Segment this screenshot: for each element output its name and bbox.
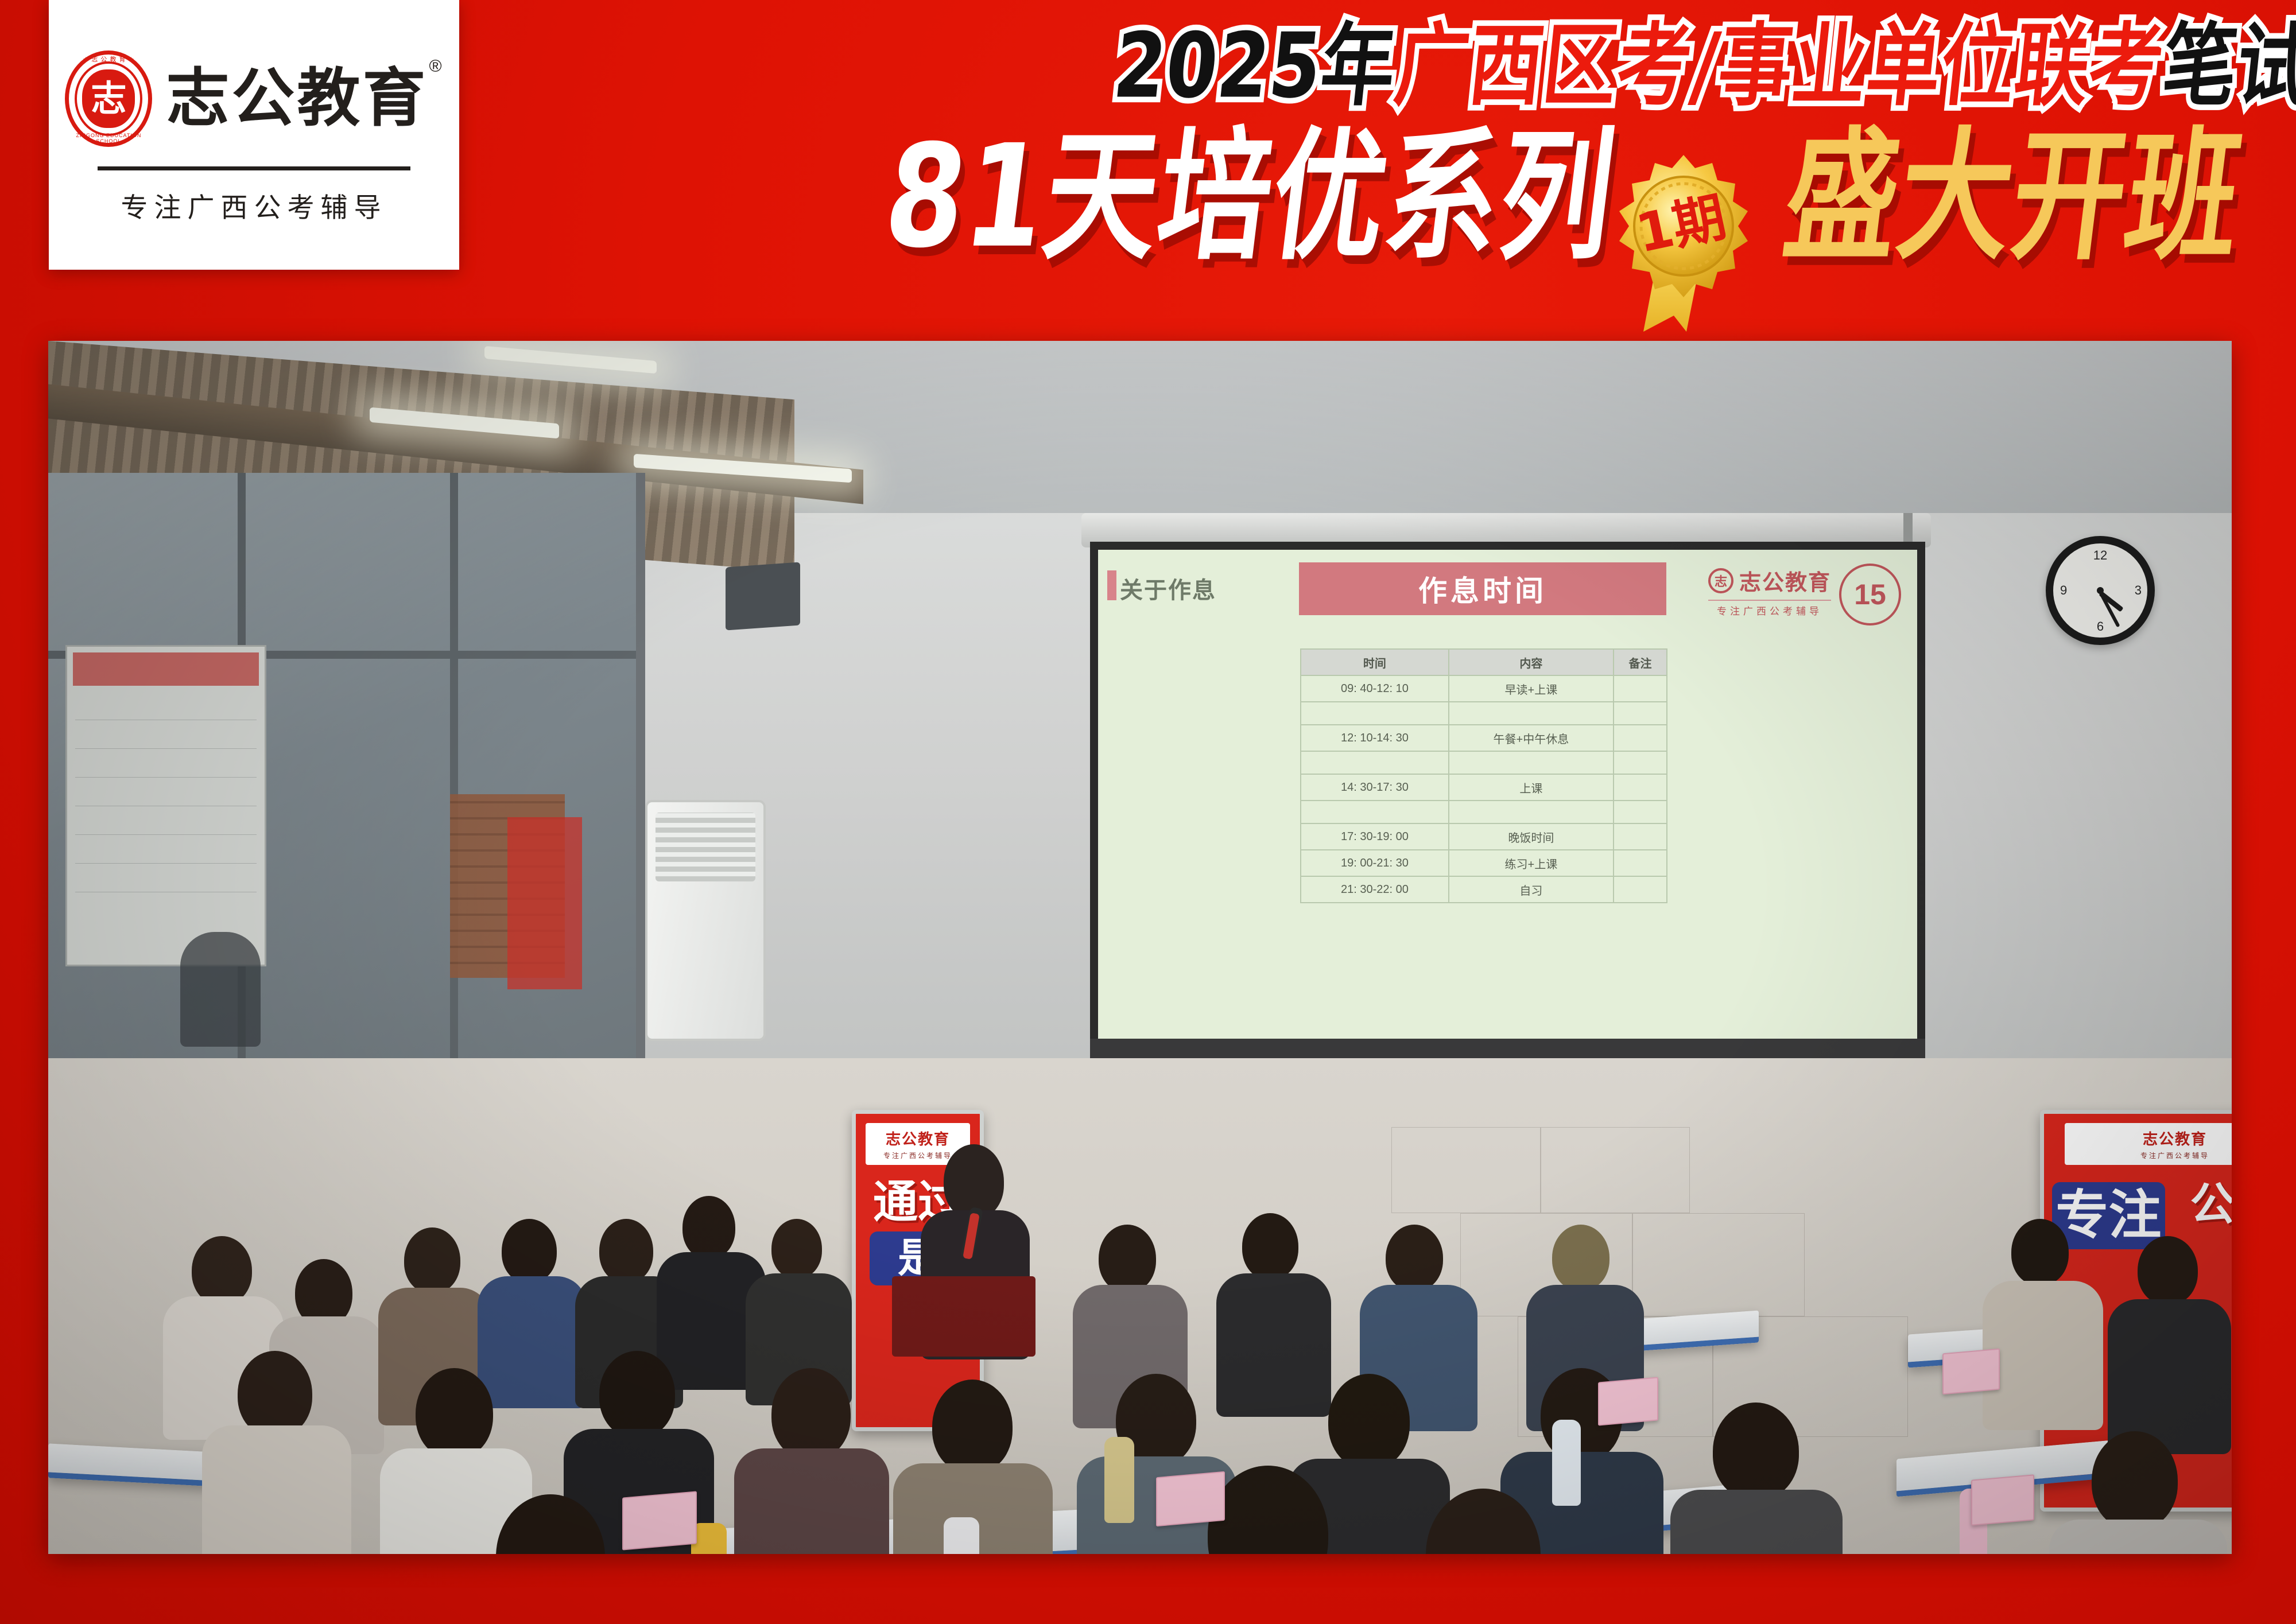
student-head	[192, 1236, 252, 1305]
schedule-cell-time	[1301, 751, 1449, 774]
brand-logo-card: ★ 志 公 教 育 ★ 志 ZHIGONG EDUCATION SCHOOL 志…	[49, 0, 459, 270]
schedule-cell-time: 14: 30-17: 30	[1301, 774, 1449, 801]
student-head	[1099, 1225, 1156, 1292]
group-card	[1971, 1474, 2034, 1526]
schedule-cell-time: 09: 40-12: 10	[1301, 675, 1449, 702]
schedule-row: 19: 00-21: 30练习+上课	[1301, 850, 1667, 876]
schedule-cell-content: 晚饭时间	[1449, 823, 1614, 850]
student-head	[1328, 1374, 1410, 1469]
brand-name: 志公教育®	[166, 67, 443, 130]
slide-topic-accent-bar	[1107, 570, 1116, 600]
headline-line-2: 81天培优系列盛大开班	[878, 126, 2250, 268]
rollup-right-blue-word: 专注	[2052, 1182, 2165, 1249]
schedule-row	[1301, 751, 1667, 774]
gold-medal-badge-icon: 1期	[1589, 148, 1778, 337]
group-card	[622, 1491, 697, 1550]
seal-micro-top-text: ★ 志 公 教 育 ★	[65, 55, 152, 64]
headline-exam-name: 广西区考/事业单位联考	[1390, 14, 2169, 119]
schedule-cell-note	[1614, 702, 1667, 725]
water-bottle	[1104, 1437, 1134, 1523]
schedule-cell-time: 17: 30-19: 00	[1301, 823, 1449, 850]
schedule-cell-content	[1449, 751, 1614, 774]
slide-brand-name: 志公教育	[1739, 565, 1831, 596]
slide-brand-logo: 志 志公教育 专注广西公考辅导	[1708, 565, 1831, 617]
schedule-row: 14: 30-17: 30上课	[1301, 774, 1667, 801]
schedule-header-row: 时间 内容 备注	[1301, 649, 1667, 675]
student-head	[771, 1219, 822, 1279]
student-head	[1386, 1225, 1443, 1291]
schedule-row: 17: 30-19: 00晚饭时间	[1301, 823, 1667, 850]
headline-open-class: 盛大开班	[1776, 115, 2251, 279]
headline-course-name: 81天培优系列	[876, 115, 1624, 279]
schedule-cell-time: 12: 10-14: 30	[1301, 725, 1449, 751]
schedule-table: 时间 内容 备注 09: 40-12: 10早读+上课12: 10-14: 30…	[1300, 648, 1667, 903]
schedule-cell-time	[1301, 801, 1449, 823]
rollup-left-brand: 志公教育	[868, 1128, 967, 1149]
wall-clock: 12 3 6 9	[2046, 536, 2155, 645]
promo-poster: ★ 志 公 教 育 ★ 志 ZHIGONG EDUCATION SCHOOL 志…	[0, 0, 2296, 1624]
group-card	[1156, 1471, 1225, 1526]
group-card	[1598, 1377, 1658, 1425]
ac-vent	[656, 813, 755, 881]
seal-char: 志	[91, 81, 126, 116]
brand-name-text: 志公教育	[166, 63, 428, 134]
slide-topic-label: 关于作息	[1120, 572, 1216, 605]
slide-title: 作息时间	[1299, 562, 1666, 615]
schedule-cell-time: 19: 00-21: 30	[1301, 850, 1449, 876]
schedule-row: 09: 40-12: 10早读+上课	[1301, 675, 1667, 702]
schedule-cell-note	[1614, 850, 1667, 876]
schedule-cell-note	[1614, 823, 1667, 850]
brand-tagline: 专注广西公考辅导	[121, 185, 387, 225]
schedule-cell-note	[1614, 876, 1667, 903]
schedule-cell-content: 上课	[1449, 774, 1614, 801]
schedule-header-note: 备注	[1614, 649, 1667, 675]
schedule-cell-content: 自习	[1449, 876, 1614, 903]
schedule-row: 21: 30-22: 00自习	[1301, 876, 1667, 903]
red-door-panel	[507, 817, 582, 989]
student-head	[404, 1227, 460, 1293]
student-head	[1242, 1213, 1298, 1280]
student-head	[599, 1351, 675, 1438]
schedule-cell-content: 早读+上课	[1449, 675, 1614, 702]
schedule-cell-note	[1614, 675, 1667, 702]
rollup-right-word: 公考	[2172, 1182, 2232, 1226]
headline-written-exam: 笔试	[2158, 14, 2296, 119]
logo-divider	[98, 166, 410, 170]
person-behind-glass	[180, 932, 261, 1047]
rollup-right-brand-sub: 专注广西公考辅导	[2067, 1151, 2232, 1160]
student-head	[932, 1380, 1013, 1474]
schedule-cell-content	[1449, 702, 1614, 725]
schedule-cell-note	[1614, 801, 1667, 823]
student-body	[1216, 1273, 1331, 1417]
projector-screen: 关于作息 作息时间 志 志公教育 专注广西公考辅导 15 时间 内容	[1090, 542, 1925, 1058]
slide-seal-icon: 志	[1708, 568, 1733, 593]
schedule-cell-time	[1301, 702, 1449, 725]
student-head	[771, 1368, 851, 1460]
water-bottle	[1552, 1420, 1581, 1506]
rollup-right-brand: 志公教育	[2067, 1128, 2232, 1149]
schedule-row	[1301, 801, 1667, 823]
student-body	[2049, 1520, 2227, 1554]
schedule-row	[1301, 702, 1667, 725]
glass-partition	[48, 473, 645, 1093]
brand-seal-icon: ★ 志 公 教 育 ★ 志 ZHIGONG EDUCATION SCHOOL	[65, 50, 152, 147]
notice-board	[65, 645, 266, 966]
student-body	[2108, 1299, 2231, 1454]
schedule-header-time: 时间	[1301, 649, 1449, 675]
schedule-cell-content: 午餐+中午休息	[1449, 725, 1614, 751]
registered-mark: ®	[429, 57, 444, 76]
presentation-slide: 关于作息 作息时间 志 志公教育 专注广西公考辅导 15 时间 内容	[1098, 550, 1917, 1039]
notice-board-header	[73, 652, 259, 686]
group-card	[1942, 1349, 2000, 1395]
slide-brand-tagline: 专注广西公考辅导	[1708, 600, 1831, 617]
student-head-with-cap	[1552, 1225, 1609, 1291]
student-head	[682, 1196, 735, 1259]
schedule-cell-note	[1614, 751, 1667, 774]
air-conditioner	[645, 800, 766, 1041]
student-head	[1713, 1402, 1799, 1500]
schedule-row: 12: 10-14: 30午餐+中午休息	[1301, 725, 1667, 751]
schedule-cell-note	[1614, 774, 1667, 801]
student-head	[2092, 1431, 2178, 1530]
student-head	[2011, 1219, 2069, 1285]
student-body	[1983, 1281, 2103, 1430]
student-head	[2138, 1236, 2198, 1305]
podium	[892, 1276, 1035, 1357]
brand-logo-row: ★ 志 公 教 育 ★ 志 ZHIGONG EDUCATION SCHOOL 志…	[65, 50, 443, 147]
headline-line-1: 2025年广西区考/事业单位联考笔试	[1110, 22, 2296, 111]
headline-year: 2025年	[1109, 14, 1401, 119]
student-head	[599, 1219, 653, 1283]
schedule-header-content: 内容	[1449, 649, 1614, 675]
student-body	[478, 1276, 587, 1408]
wall-speaker	[726, 562, 800, 630]
schedule-cell-content: 练习+上课	[1449, 850, 1614, 876]
rollup-right-logo: 志公教育 专注广西公考辅导	[2065, 1123, 2232, 1165]
classroom-photo: 12 3 6 9 关于作息 作息时间 志 志公教育 专注广西公考辅导	[48, 341, 2232, 1554]
student-head	[416, 1368, 493, 1459]
student-body	[202, 1425, 351, 1554]
seal-micro-bottom-text: ZHIGONG EDUCATION SCHOOL	[65, 133, 152, 144]
student-head	[502, 1219, 557, 1283]
schedule-cell-time: 21: 30-22: 00	[1301, 876, 1449, 903]
schedule-cell-content	[1449, 801, 1614, 823]
student-body	[734, 1448, 889, 1554]
projector-screen-bottom-bar	[1090, 1039, 1925, 1058]
anniversary-badge: 15	[1839, 564, 1901, 625]
student-head	[238, 1351, 312, 1437]
student-body	[1670, 1490, 1843, 1554]
schedule-cell-note	[1614, 725, 1667, 751]
water-bottle	[944, 1517, 979, 1554]
